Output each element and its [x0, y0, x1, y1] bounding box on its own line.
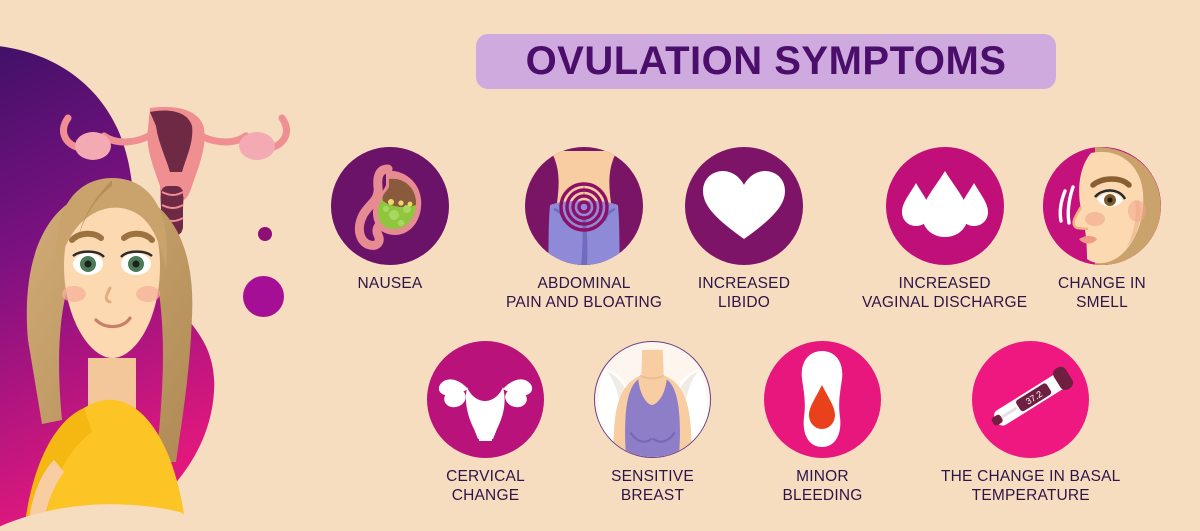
right-ovary: [239, 132, 275, 160]
symptom-vaginal-discharge[interactable]: INCREASED VAGINAL DISCHARGE: [862, 147, 1027, 313]
uterus-icon: [427, 341, 544, 458]
page-title: OVULATION SYMPTOMS: [526, 39, 1007, 84]
breast-torso-icon: [595, 341, 710, 458]
sanitary-pad-blood-drop-icon: [764, 341, 881, 458]
abdominal-label: ABDOMINAL PAIN AND BLOATING: [506, 275, 662, 313]
symptom-cervical-change[interactable]: CERVICAL CHANGE: [427, 341, 544, 506]
heart-icon: [685, 147, 803, 265]
abdominal-circle: [525, 147, 643, 265]
discharge-label: INCREASED VAGINAL DISCHARGE: [862, 275, 1027, 313]
face-profile-smell-icon: [1043, 147, 1161, 265]
symptom-nausea[interactable]: NAUSEA: [331, 147, 449, 294]
water-drops-icon: [886, 147, 1004, 265]
symptom-increased-libido[interactable]: INCREASED LIBIDO: [685, 147, 803, 313]
left-ovary: [75, 132, 111, 160]
basal-label: THE CHANGE IN BASAL TEMPERATURE: [941, 468, 1121, 506]
bleeding-label: MINOR BLEEDING: [783, 468, 863, 506]
cervical-label: CERVICAL CHANGE: [446, 468, 525, 506]
cervical-circle: [427, 341, 544, 458]
symptom-sensitive-breast[interactable]: SENSITIVE BREAST: [594, 341, 711, 506]
symptom-change-in-smell[interactable]: CHANGE IN SMELL: [1043, 147, 1161, 313]
symptom-abdominal-pain[interactable]: ABDOMINAL PAIN AND BLOATING: [506, 147, 662, 313]
nausea-label: NAUSEA: [358, 275, 423, 294]
decorative-dot-large: [243, 276, 284, 317]
discharge-circle: [886, 147, 1004, 265]
abdomen-pain-icon: [525, 147, 643, 265]
libido-label: INCREASED LIBIDO: [698, 275, 790, 313]
nausea-circle: [331, 147, 449, 265]
title-banner: OVULATION SYMPTOMS: [476, 34, 1056, 89]
bleeding-circle: [764, 341, 881, 458]
symptom-minor-bleeding[interactable]: MINOR BLEEDING: [764, 341, 881, 506]
hero-illustration: [0, 0, 320, 531]
basal-circle: 37.2: [972, 341, 1089, 458]
breast-label: SENSITIVE BREAST: [611, 468, 694, 506]
stomach-icon: [331, 147, 449, 265]
smell-circle: [1043, 147, 1161, 265]
symptom-basal-temperature[interactable]: 37.2 THE CHANGE IN BASAL TEMPERATURE: [941, 341, 1121, 506]
libido-circle: [685, 147, 803, 265]
breast-circle: [594, 341, 711, 458]
smell-label: CHANGE IN SMELL: [1058, 275, 1146, 313]
woman-character: [24, 178, 192, 531]
ovulation-symptoms-infographic: OVULATION SYMPTOMS NAUSEA: [0, 0, 1200, 531]
decorative-dot-small: [258, 227, 272, 241]
thermometer-icon: 37.2: [972, 341, 1089, 458]
